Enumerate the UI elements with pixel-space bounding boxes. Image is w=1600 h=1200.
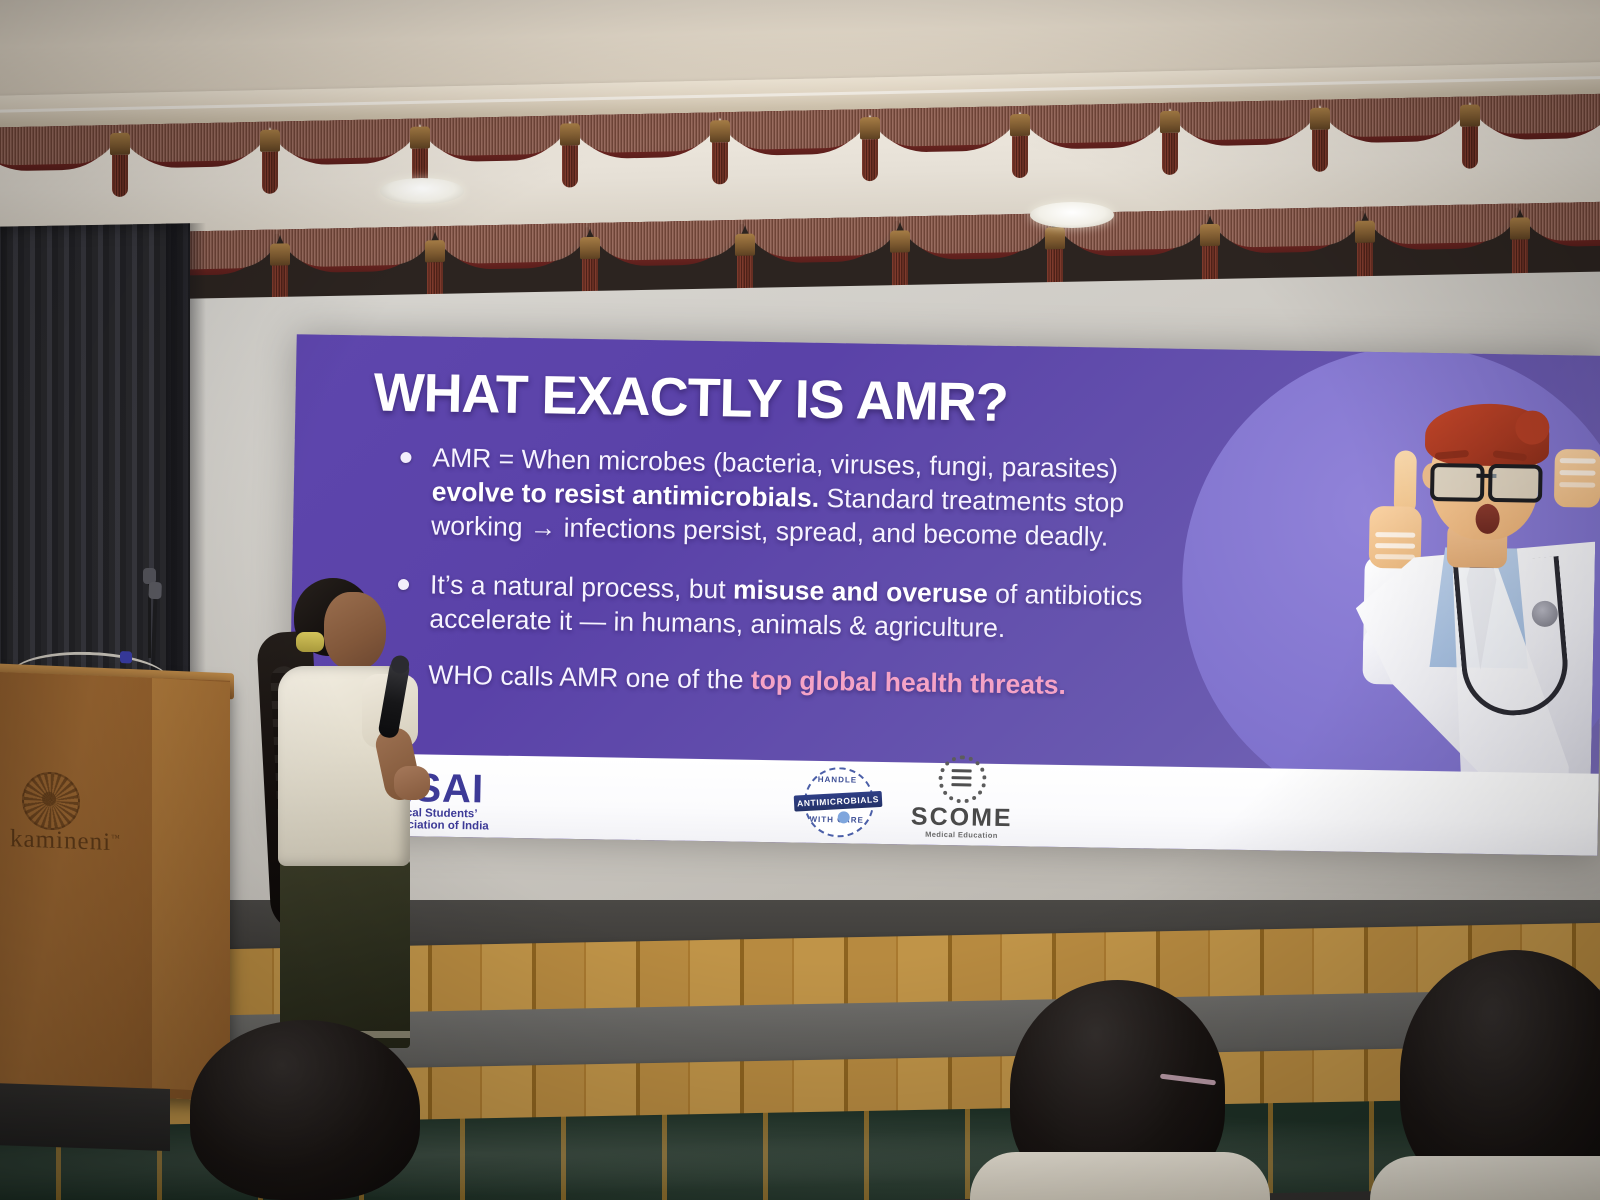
scome-bar [952, 769, 972, 773]
curtain-tassel [1460, 104, 1480, 168]
presenter-hair-tie [296, 632, 324, 652]
scome-mark-icon [938, 755, 987, 804]
curtain-swag [1520, 201, 1600, 242]
bullet-text: WHO calls AMR one of the top global heal… [428, 657, 1195, 704]
tassel-skirt [112, 155, 128, 197]
glasses-lens-right [1488, 464, 1543, 503]
curtain-swag [1320, 93, 1470, 138]
auditorium-photo: WHAT EXACTLY IS AMR? AMR = When microbes… [0, 0, 1600, 1200]
scome-bar [951, 783, 971, 787]
list-item: AMR = When microbes (bacteria, viruses, … [387, 440, 1199, 556]
scome-bar [952, 776, 972, 780]
curtain-tassel [860, 117, 880, 181]
tassel-cap [410, 126, 430, 148]
stage-floor-equipment [0, 1083, 170, 1151]
audience-shoulder [970, 1152, 1270, 1200]
tassel-cap [890, 230, 910, 252]
ceiling-light [380, 178, 464, 204]
presenter-face [324, 592, 386, 670]
tassel-skirt [1012, 136, 1028, 178]
tassel-cap [1010, 114, 1030, 136]
tassel-cap [270, 243, 290, 265]
tassel-cap [580, 237, 600, 259]
bullet-dot-icon [400, 452, 411, 463]
tassel-cap [860, 117, 880, 139]
curtain-tassel [110, 133, 130, 197]
tassel-skirt [712, 142, 728, 184]
curtain-swag [1365, 201, 1520, 245]
glasses-icon [1430, 463, 1543, 495]
tassel-cap [1310, 108, 1330, 130]
curtain-tassel [1310, 108, 1330, 172]
tassel-cap [1355, 221, 1375, 243]
tassel-cap [425, 240, 445, 262]
tassel-skirt [1462, 126, 1478, 168]
tassel-cap [1045, 227, 1065, 249]
bullet-text: It’s a natural process, but misuse and o… [429, 567, 1196, 648]
doctor-right-hand [1554, 449, 1600, 508]
presenter-hand [394, 766, 430, 800]
tassel-skirt [1312, 130, 1328, 172]
doctor-illustration [1261, 368, 1599, 773]
slide-bullet-list: AMR = When microbes (bacteria, viruses, … [384, 440, 1199, 710]
curtain-tassel [560, 123, 580, 187]
list-item: WHO calls AMR one of the top global heal… [384, 657, 1195, 705]
doctor-index-finger [1394, 450, 1417, 514]
curtain-tassel [260, 130, 280, 194]
curtain-fringe [1468, 93, 1600, 135]
badge-top-arc-text: HANDLE [804, 775, 870, 785]
tassel-cap [1200, 224, 1220, 246]
tassel-cap [1460, 104, 1480, 126]
ceiling-light [1030, 202, 1114, 228]
tassel-skirt [862, 139, 878, 181]
glasses-lens-left [1430, 463, 1485, 502]
podium-side-panel [152, 678, 230, 1092]
handle-antimicrobials-badge: HANDLE WITH CARE ANTIMICROBIALS [793, 767, 882, 834]
tassel-cap [1510, 217, 1530, 239]
curtain-tassel [710, 120, 730, 184]
presenter [258, 570, 448, 1080]
tassel-cap [735, 234, 755, 256]
presentation-slide: WHAT EXACTLY IS AMR? AMR = When microbes… [287, 334, 1600, 856]
tassel-cap [710, 120, 730, 142]
curtain-swag [1470, 93, 1600, 135]
curtain-tassel [1160, 111, 1180, 175]
audience-shoulder [1370, 1156, 1600, 1200]
tassel-skirt [562, 145, 578, 187]
tassel-cap [560, 123, 580, 145]
curtain-tassel [1010, 114, 1030, 178]
audience-head [190, 1020, 420, 1200]
slide-title: WHAT EXACTLY IS AMR? [373, 361, 1008, 433]
tassel-cap [110, 133, 130, 155]
badge-bottom-arc-text: WITH CARE [804, 815, 870, 825]
curtain-fringe [1518, 201, 1600, 242]
podium-brand-text: kamineni™ [10, 825, 160, 859]
tassel-skirt [262, 152, 278, 194]
scome-logo: SCOME Medical Education [901, 754, 1023, 840]
tassel-skirt [1162, 133, 1178, 175]
tassel-cap [1160, 111, 1180, 133]
bullet-text: AMR = When microbes (bacteria, viruses, … [431, 440, 1199, 555]
curtain-fringe [1363, 201, 1522, 245]
curtain-fringe [1318, 93, 1472, 138]
badge-banner-text: ANTIMICROBIALS [797, 794, 879, 808]
scome-name: SCOME [902, 804, 1022, 831]
list-item: It’s a natural process, but misuse and o… [385, 566, 1196, 648]
tassel-cap [260, 130, 280, 152]
